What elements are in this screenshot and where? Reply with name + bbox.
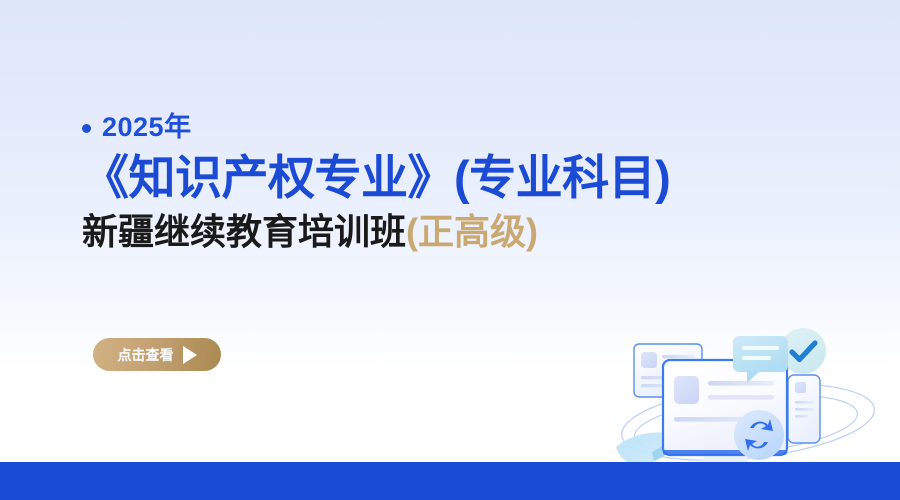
eyebrow-year-label: 2025年 [102, 114, 192, 141]
subtitle-black-text: 新疆继续教育培训班 [82, 211, 406, 252]
page-title: 《知识产权专业》(专业科目) [82, 153, 842, 202]
headline-block: 2025年 《知识产权专业》(专业科目) 新疆继续教育培训班(正高级) [82, 110, 842, 252]
online-learning-illustration [600, 319, 890, 484]
subtitle: 新疆继续教育培训班(正高级) [82, 212, 842, 252]
subtitle-level-badge: (正高级) [406, 211, 538, 252]
sync-refresh-icon [734, 410, 784, 460]
course-promo-banner: 2025年 《知识产权专业》(专业科目) 新疆继续教育培训班(正高级) 点击查看 [0, 0, 900, 500]
eyebrow: 2025年 [82, 110, 842, 144]
play-triangle-icon [183, 346, 197, 364]
footer-bar [0, 462, 900, 500]
view-details-button[interactable]: 点击查看 [93, 338, 221, 371]
side-phone-card [788, 375, 820, 443]
view-details-label: 点击查看 [118, 348, 174, 362]
bullet-dot-icon [82, 124, 91, 133]
